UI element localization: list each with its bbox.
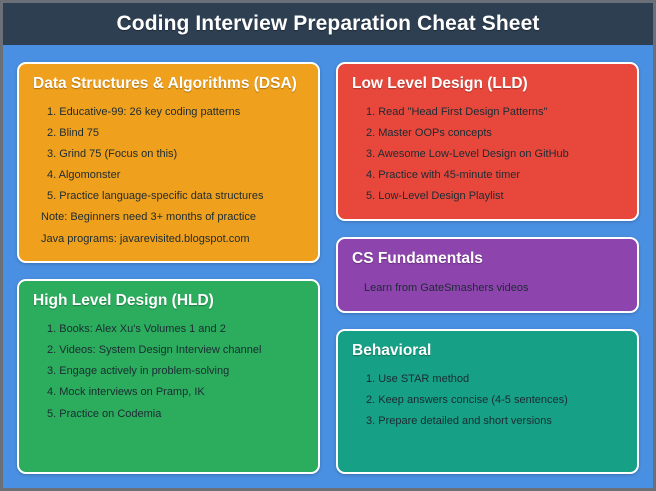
list-item: 5. Low-Level Design Playlist (352, 186, 623, 207)
card-cs-fundamentals[interactable]: CS Fundamentals Learn from GateSmashers … (336, 237, 639, 313)
card-behavioral-list: 1. Use STAR method 2. Keep answers conci… (352, 368, 623, 431)
list-item: 4. Algomonster (33, 165, 304, 186)
list-item: 2. Blind 75 (33, 123, 304, 144)
list-item: 3. Prepare detailed and short versions (352, 410, 623, 431)
list-item: 3. Grind 75 (Focus on this) (33, 144, 304, 165)
card-dsa[interactable]: Data Structures & Algorithms (DSA) 1. Ed… (17, 62, 320, 263)
list-item: 3. Awesome Low-Level Design on GitHub (352, 144, 623, 165)
card-lld[interactable]: Low Level Design (LLD) 1. Read "Head Fir… (336, 62, 639, 221)
card-hld-list: 1. Books: Alex Xu's Volumes 1 and 2 2. V… (33, 319, 304, 424)
header-bar: Coding Interview Preparation Cheat Sheet (3, 3, 653, 45)
card-lld-list: 1. Read "Head First Design Patterns" 2. … (352, 102, 623, 207)
left-column: Data Structures & Algorithms (DSA) 1. Ed… (17, 62, 320, 474)
card-lld-title: Low Level Design (LLD) (352, 75, 623, 94)
list-item: 5. Practice language-specific data struc… (33, 186, 304, 207)
cards-grid: Data Structures & Algorithms (DSA) 1. Ed… (3, 48, 653, 488)
list-item: 5. Practice on Codemia (33, 403, 304, 424)
card-behavioral-title: Behavioral (352, 342, 623, 361)
card-dsa-note-java-programs: Java programs: javarevisited.blogspot.co… (33, 228, 304, 249)
card-behavioral[interactable]: Behavioral 1. Use STAR method 2. Keep an… (336, 329, 639, 474)
list-item: 1. Educative-99: 26 key coding patterns (33, 102, 304, 123)
card-cs-fundamentals-title: CS Fundamentals (352, 250, 623, 269)
list-item: 3. Engage actively in problem-solving (33, 361, 304, 382)
page-title: Coding Interview Preparation Cheat Sheet (117, 12, 540, 36)
card-cs-fundamentals-line: Learn from GateSmashers videos (352, 277, 623, 299)
list-item: 1. Use STAR method (352, 368, 623, 389)
right-column: Low Level Design (LLD) 1. Read "Head Fir… (336, 62, 639, 474)
list-item: 2. Master OOPs concepts (352, 123, 623, 144)
cheat-sheet-poster: Coding Interview Preparation Cheat Sheet… (0, 0, 656, 491)
list-item: 4. Practice with 45-minute timer (352, 165, 623, 186)
list-item: 1. Read "Head First Design Patterns" (352, 102, 623, 123)
card-hld[interactable]: High Level Design (HLD) 1. Books: Alex X… (17, 279, 320, 474)
list-item: 4. Mock interviews on Pramp, IK (33, 382, 304, 403)
list-item: 1. Books: Alex Xu's Volumes 1 and 2 (33, 319, 304, 340)
card-dsa-title: Data Structures & Algorithms (DSA) (33, 75, 304, 94)
card-hld-title: High Level Design (HLD) (33, 292, 304, 311)
list-item: 2. Videos: System Design Interview chann… (33, 340, 304, 361)
card-dsa-note-beginners: Note: Beginners need 3+ months of practi… (33, 207, 304, 228)
card-dsa-list: 1. Educative-99: 26 key coding patterns … (33, 102, 304, 207)
list-item: 2. Keep answers concise (4-5 sentences) (352, 389, 623, 410)
